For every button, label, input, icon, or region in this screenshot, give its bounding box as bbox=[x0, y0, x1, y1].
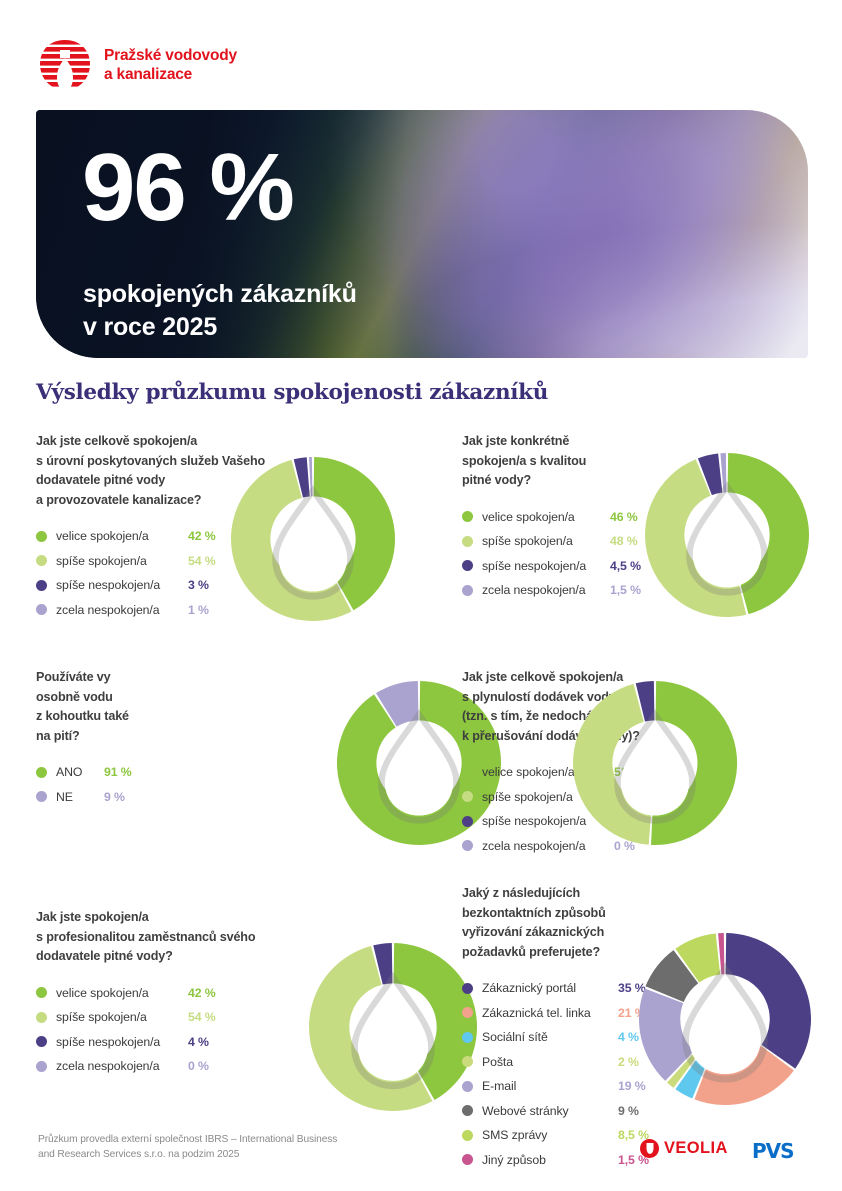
question-line: Jak jste celkově spokojen/a bbox=[36, 432, 265, 452]
footnote-line-2: and Research Services s.r.o. na podzim 2… bbox=[38, 1147, 337, 1162]
hero-subtitle: spokojených zákazníků v roce 2025 bbox=[83, 278, 357, 345]
legend-swatch-icon bbox=[462, 1154, 473, 1165]
legend-swatch-icon bbox=[36, 555, 47, 566]
legend-swatch-icon bbox=[36, 1036, 47, 1047]
question-line: pitné vody? bbox=[462, 471, 641, 491]
company-logo: Pražské vodovody a kanalizace bbox=[38, 38, 237, 92]
legend-label: E-mail bbox=[482, 1079, 618, 1093]
question-line: osobně vodu bbox=[36, 688, 132, 708]
legend-value: 4,5 % bbox=[610, 559, 641, 573]
donut-chart-water-quality bbox=[640, 448, 814, 622]
chart-block-staff-professionalism: Jak jste spokojen/as profesionalitou zam… bbox=[36, 908, 255, 1079]
legend-swatch-icon bbox=[462, 1105, 473, 1116]
legend-label: spíše nespokojen/a bbox=[56, 1035, 188, 1049]
legend-value: 42 % bbox=[188, 986, 216, 1000]
legend-swatch-icon bbox=[462, 1130, 473, 1141]
legend-label: Jiný způsob bbox=[482, 1153, 618, 1167]
legend-swatch-icon bbox=[36, 580, 47, 591]
legend-label: Pošta bbox=[482, 1055, 618, 1069]
legend-swatch-icon bbox=[462, 1007, 473, 1018]
legend-item: Pošta2 % bbox=[462, 1050, 649, 1075]
legend-swatch-icon bbox=[462, 1056, 473, 1067]
veolia-logo: VEOLIA bbox=[640, 1139, 728, 1158]
chart-question-water-quality: Jak jste konkrétněspokojen/a s kvalitoup… bbox=[462, 432, 641, 491]
legend-swatch-icon bbox=[36, 791, 47, 802]
legend-item: E-mail19 % bbox=[462, 1074, 649, 1099]
legend-item: zcela nespokojen/a1,5 % bbox=[462, 578, 641, 603]
droplet-hole-icon bbox=[621, 720, 689, 816]
legend-value: 1,5 % bbox=[610, 583, 641, 597]
legend-value: 54 % bbox=[188, 554, 216, 568]
chart-block-contactless-channels: Jaký z následujícíchbezkontaktních způso… bbox=[462, 884, 649, 1172]
legend-label: spíše nespokojen/a bbox=[56, 578, 188, 592]
legend-label: spíše spokojen/a bbox=[56, 1010, 188, 1024]
infographic-page: Pražské vodovody a kanalizace 96 % spoko… bbox=[0, 0, 842, 1191]
question-line: vyřizování zákaznických bbox=[462, 923, 649, 943]
legend-swatch-icon bbox=[462, 511, 473, 522]
legend-value: 1 % bbox=[188, 603, 209, 617]
legend-value: 3 % bbox=[188, 578, 209, 592]
legend-label: spíše spokojen/a bbox=[56, 554, 188, 568]
chart-question-staff-professionalism: Jak jste spokojen/as profesionalitou zam… bbox=[36, 908, 255, 967]
legend-swatch-icon bbox=[462, 791, 473, 802]
question-line: spokojen/a s kvalitou bbox=[462, 452, 641, 472]
legend-swatch-icon bbox=[36, 1061, 47, 1072]
question-line: požadavků preferujete? bbox=[462, 943, 649, 963]
legend-label: velice spokojen/a bbox=[482, 510, 610, 524]
legend-swatch-icon bbox=[462, 816, 473, 827]
droplet-hole-icon bbox=[689, 974, 761, 1074]
legend-swatch-icon bbox=[36, 767, 47, 778]
legend-item: spíše spokojen/a48 % bbox=[462, 529, 641, 554]
legend-swatch-icon bbox=[36, 604, 47, 615]
legend-label: spíše nespokojen/a bbox=[482, 559, 610, 573]
donut-chart-supply-continuity bbox=[568, 676, 742, 850]
legend-item: velice spokojen/a42 % bbox=[36, 981, 255, 1006]
legend-value: 46 % bbox=[610, 510, 638, 524]
legend-item: SMS zprávy8,5 % bbox=[462, 1123, 649, 1148]
legend-swatch-icon bbox=[462, 585, 473, 596]
logo-wordmark: Pražské vodovody a kanalizace bbox=[104, 46, 237, 85]
legend-item: Zákaznický portál35 % bbox=[462, 976, 649, 1001]
legend-value: 4 % bbox=[188, 1035, 209, 1049]
donut-chart-staff-professionalism bbox=[304, 938, 482, 1116]
question-line: bezkontaktních způsobů bbox=[462, 904, 649, 924]
donut-chart-contactless-channels bbox=[634, 928, 816, 1110]
legend-label: zcela nespokojen/a bbox=[56, 1059, 188, 1073]
legend-swatch-icon bbox=[462, 1081, 473, 1092]
legend-item: spíše spokojen/a54 % bbox=[36, 1005, 255, 1030]
legend-value: 54 % bbox=[188, 1010, 216, 1024]
pvs-logo: PVS bbox=[752, 1139, 794, 1163]
chart-legend-tap-water-drinking: ANO91 %NE9 % bbox=[36, 760, 132, 809]
question-line: dodavatele pitné vody? bbox=[36, 947, 255, 967]
droplet-hole-icon bbox=[385, 720, 453, 816]
hero-subtitle-line-1: spokojených zákazníků bbox=[83, 278, 357, 311]
legend-label: Sociální sítě bbox=[482, 1030, 618, 1044]
legend-swatch-icon bbox=[36, 531, 47, 542]
droplet-hole-icon bbox=[693, 492, 761, 588]
legend-value: 0 % bbox=[188, 1059, 209, 1073]
legend-label: spíše spokojen/a bbox=[482, 534, 610, 548]
legend-label: Zákaznická tel. linka bbox=[482, 1006, 618, 1020]
hero-subtitle-line-2: v roce 2025 bbox=[83, 311, 357, 344]
legend-label: velice spokojen/a bbox=[56, 529, 188, 543]
question-line: na pití? bbox=[36, 727, 132, 747]
legend-value: 9 % bbox=[104, 790, 125, 804]
legend-item: spíše nespokojen/a4 % bbox=[36, 1030, 255, 1055]
legend-label: Zákaznický portál bbox=[482, 981, 618, 995]
legend-swatch-icon bbox=[462, 767, 473, 778]
logo-line-1: Pražské vodovody bbox=[104, 46, 237, 65]
legend-swatch-icon bbox=[462, 1032, 473, 1043]
chart-block-water-quality: Jak jste konkrétněspokojen/a s kvalitoup… bbox=[462, 432, 641, 603]
legend-item: Jiný způsob1,5 % bbox=[462, 1148, 649, 1173]
question-line: s profesionalitou zaměstnanců svého bbox=[36, 928, 255, 948]
legend-item: velice spokojen/a46 % bbox=[462, 505, 641, 530]
footnote: Průzkum provedla externí společnost IBRS… bbox=[38, 1132, 337, 1163]
legend-swatch-icon bbox=[462, 840, 473, 851]
question-line: Používáte vy bbox=[36, 668, 132, 688]
legend-value: 91 % bbox=[104, 765, 132, 779]
legend-label: zcela nespokojen/a bbox=[482, 583, 610, 597]
legend-item: zcela nespokojen/a0 % bbox=[36, 1054, 255, 1079]
hero-banner: 96 % spokojených zákazníků v roce 2025 bbox=[36, 110, 808, 358]
question-line: Jak jste spokojen/a bbox=[36, 908, 255, 928]
legend-item: Sociální sítě4 % bbox=[462, 1025, 649, 1050]
veolia-mark-icon bbox=[640, 1139, 659, 1158]
hero-headline: 96 % bbox=[82, 140, 293, 236]
legend-swatch-icon bbox=[462, 983, 473, 994]
legend-label: velice spokojen/a bbox=[56, 986, 188, 1000]
question-line: Jak jste konkrétně bbox=[462, 432, 641, 452]
droplet-hole-icon bbox=[358, 983, 428, 1081]
chart-question-contactless-channels: Jaký z následujícíchbezkontaktních způso… bbox=[462, 884, 649, 962]
section-title: Výsledky průzkumu spokojenosti zákazníků bbox=[36, 380, 548, 405]
question-line: z kohoutku také bbox=[36, 707, 132, 727]
pvk-droplet-icon bbox=[38, 38, 92, 92]
legend-value: 42 % bbox=[188, 529, 216, 543]
legend-label: SMS zprávy bbox=[482, 1128, 618, 1142]
droplet-hole-icon bbox=[279, 496, 347, 592]
legend-item: ANO91 % bbox=[36, 760, 132, 785]
veolia-label: VEOLIA bbox=[664, 1139, 728, 1158]
legend-label: NE bbox=[56, 790, 104, 804]
legend-label: Webové stránky bbox=[482, 1104, 618, 1118]
legend-swatch-icon bbox=[36, 987, 47, 998]
chart-legend-staff-professionalism: velice spokojen/a42 %spíše spokojen/a54 … bbox=[36, 981, 255, 1079]
legend-item: spíše nespokojen/a4,5 % bbox=[462, 554, 641, 579]
legend-item: Webové stránky9 % bbox=[462, 1099, 649, 1124]
question-line: Jaký z následujících bbox=[462, 884, 649, 904]
legend-label: zcela nespokojen/a bbox=[56, 603, 188, 617]
chart-question-tap-water-drinking: Používáte vyosobně voduz kohoutku takéna… bbox=[36, 668, 132, 746]
chart-legend-contactless-channels: Zákaznický portál35 %Zákaznická tel. lin… bbox=[462, 976, 649, 1172]
legend-value: 48 % bbox=[610, 534, 638, 548]
legend-item: NE9 % bbox=[36, 785, 132, 810]
legend-swatch-icon bbox=[462, 560, 473, 571]
legend-swatch-icon bbox=[462, 536, 473, 547]
chart-legend-water-quality: velice spokojen/a46 %spíše spokojen/a48 … bbox=[462, 505, 641, 603]
legend-label: ANO bbox=[56, 765, 104, 779]
donut-chart-overall-service bbox=[226, 452, 400, 626]
legend-item: Zákaznická tel. linka21 % bbox=[462, 1001, 649, 1026]
legend-swatch-icon bbox=[36, 1012, 47, 1023]
footnote-line-1: Průzkum provedla externí společnost IBRS… bbox=[38, 1132, 337, 1147]
logo-line-2: a kanalizace bbox=[104, 65, 237, 84]
chart-block-tap-water-drinking: Používáte vyosobně voduz kohoutku takéna… bbox=[36, 668, 132, 809]
